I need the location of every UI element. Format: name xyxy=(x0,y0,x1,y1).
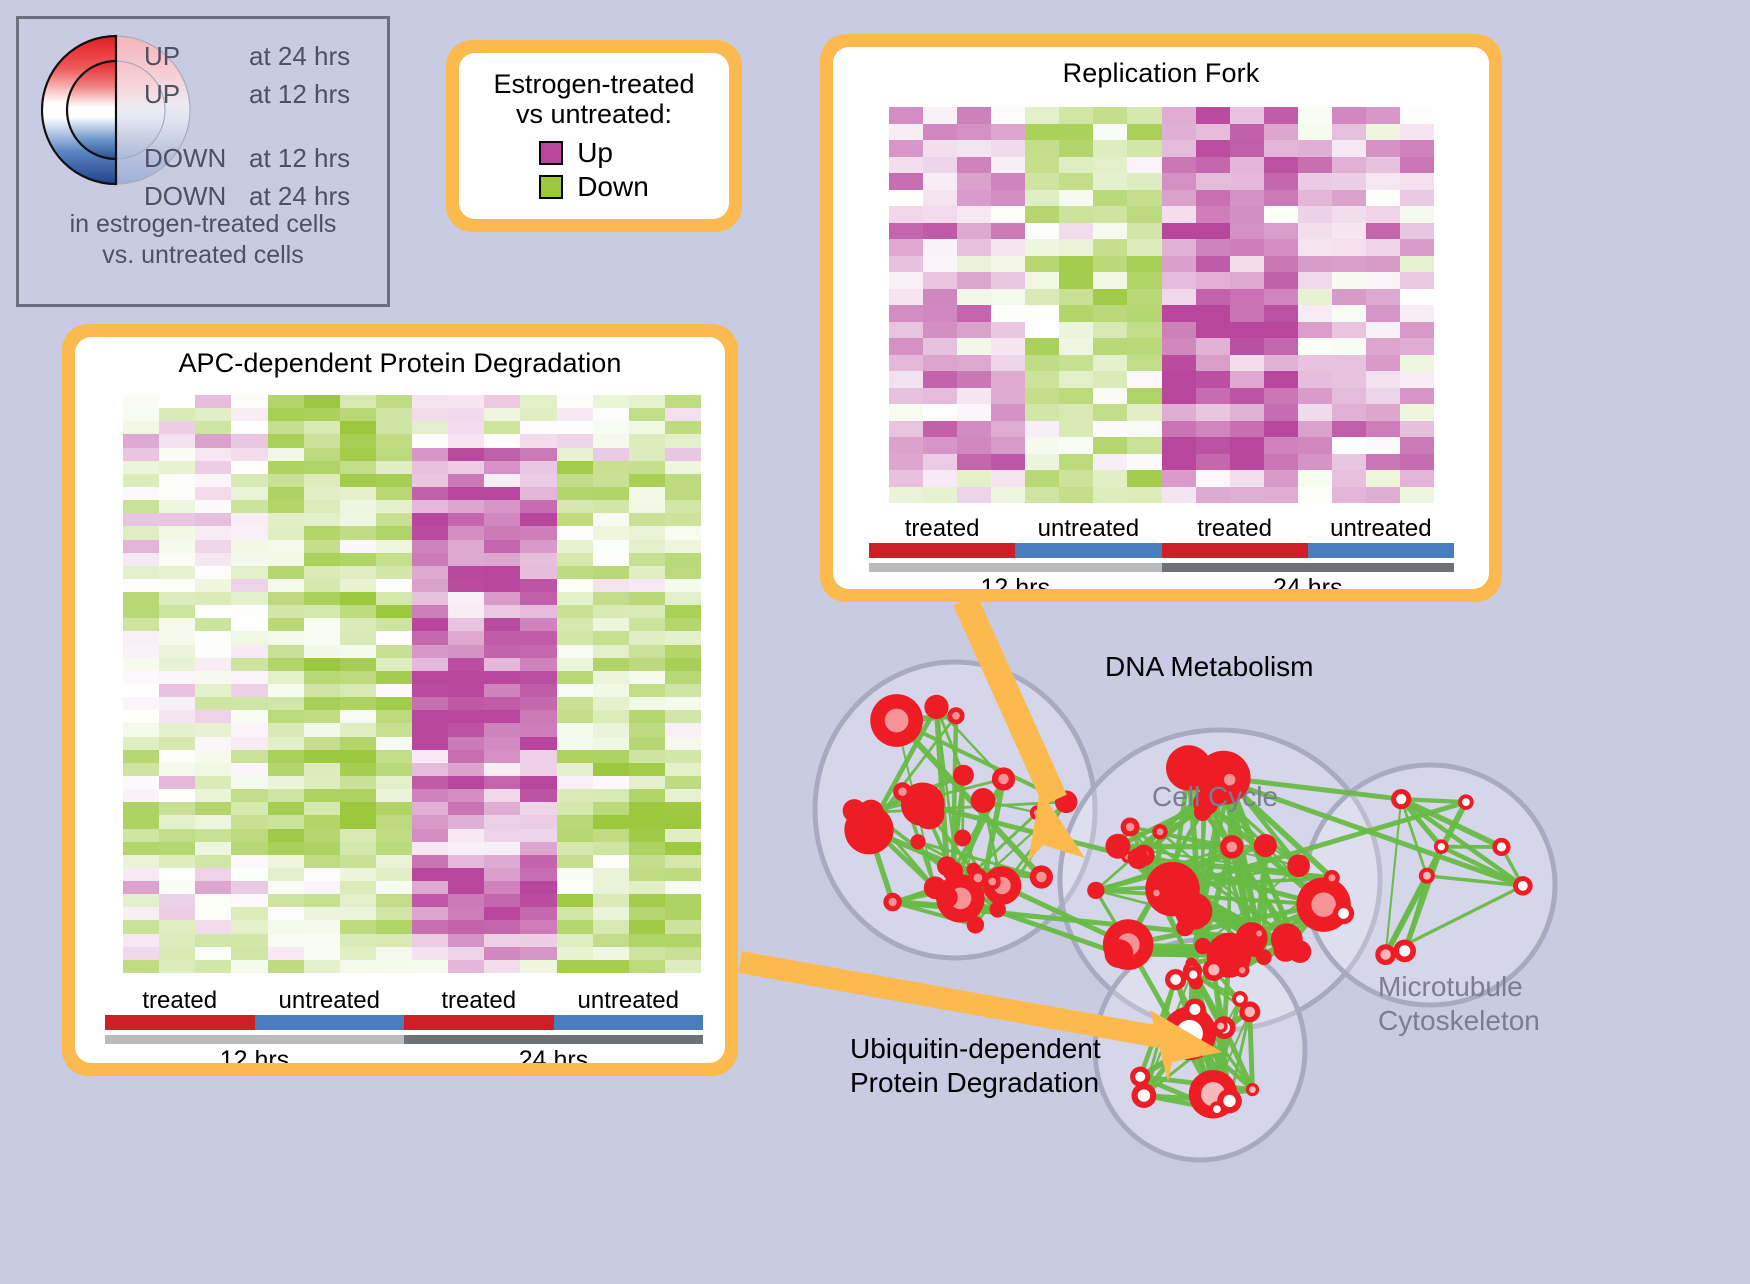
heatmap-cell xyxy=(304,907,340,920)
heatmap-cell xyxy=(231,881,267,894)
heatmap-cell xyxy=(889,190,923,207)
heatmap-cell xyxy=(1059,223,1093,240)
heatmap-cell xyxy=(923,140,957,157)
heatmap-cell xyxy=(123,461,159,474)
heatmap-cell xyxy=(593,723,629,736)
heatmap-cell xyxy=(376,907,412,920)
heatmap-cell xyxy=(593,671,629,684)
timepoint-color-bars xyxy=(869,563,1454,572)
heatmap-cell xyxy=(1332,338,1366,355)
heatmap-cell xyxy=(340,684,376,697)
heatmap-cell xyxy=(268,448,304,461)
heatmap-cell xyxy=(123,566,159,579)
heatmap-cell xyxy=(923,223,957,240)
heatmap-cell xyxy=(448,894,484,907)
heatmap-cell xyxy=(889,289,923,306)
heatmap-cell xyxy=(557,934,593,947)
heatmap-cell xyxy=(123,605,159,618)
heatmap-cell xyxy=(1230,421,1264,438)
network-node xyxy=(924,695,948,719)
heatmap-cell xyxy=(448,605,484,618)
heatmap-cell xyxy=(340,750,376,763)
heatmap-cell xyxy=(593,434,629,447)
heatmap-cell xyxy=(520,474,556,487)
heatmap-cell xyxy=(1264,487,1298,504)
heatmap-cell xyxy=(484,500,520,513)
heatmap-cell xyxy=(376,960,412,973)
heatmap-cell xyxy=(195,829,231,842)
heatmap-cell xyxy=(1264,454,1298,471)
heatmap-cell xyxy=(1264,239,1298,256)
heatmap-cell xyxy=(889,421,923,438)
heatmap-cell xyxy=(889,338,923,355)
heatmap-cell xyxy=(448,920,484,933)
heatmap-cell xyxy=(484,592,520,605)
heatmap-cell xyxy=(268,461,304,474)
heatmap-cell xyxy=(1264,322,1298,339)
heatmap-cell xyxy=(1196,140,1230,157)
heatmap-cell xyxy=(665,934,701,947)
heatmap-cell xyxy=(1196,305,1230,322)
heatmap-cell xyxy=(991,140,1025,157)
heatmap-cell xyxy=(1298,206,1332,223)
heatmap-cell xyxy=(412,947,448,960)
heatmap-cell xyxy=(484,421,520,434)
heatmap-cell xyxy=(484,737,520,750)
heatmap-cell xyxy=(557,697,593,710)
heatmap-cell xyxy=(1230,305,1264,322)
heatmap-cell xyxy=(1059,404,1093,421)
heatmap-cell xyxy=(231,474,267,487)
heatmap-cell xyxy=(412,631,448,644)
heatmap-cell xyxy=(1264,140,1298,157)
heatmap-cell xyxy=(340,868,376,881)
heatmap-cell xyxy=(629,710,665,723)
legend-up-down: Estrogen-treated vs untreated: Up Down xyxy=(446,40,742,232)
heatmap-cell xyxy=(593,618,629,631)
heatmap-cell xyxy=(304,631,340,644)
heatmap-cell xyxy=(593,934,629,947)
heatmap-cell xyxy=(195,894,231,907)
heatmap-cell xyxy=(557,947,593,960)
heatmap-cell xyxy=(665,631,701,644)
heatmap-cell xyxy=(957,272,991,289)
heatmap-cell xyxy=(557,737,593,750)
heatmap-cell xyxy=(665,474,701,487)
network-node-center xyxy=(885,709,909,733)
heatmap-cell xyxy=(1332,421,1366,438)
heatmap-cell xyxy=(268,645,304,658)
heatmap-cell xyxy=(412,815,448,828)
heatmap-cell xyxy=(957,256,991,273)
timepoint-label: 24 hrs xyxy=(404,1046,703,1063)
heatmap-cell xyxy=(376,474,412,487)
heatmap-cell xyxy=(1264,404,1298,421)
heatmap-cell xyxy=(231,461,267,474)
heatmap-cell xyxy=(629,474,665,487)
heatmap-cell xyxy=(340,658,376,671)
heatmap-cell xyxy=(1162,388,1196,405)
heatmap-cell xyxy=(889,223,923,240)
heatmap-cell xyxy=(123,842,159,855)
heatmap-cell xyxy=(1059,322,1093,339)
heatmap-cell xyxy=(448,513,484,526)
heatmap-cell xyxy=(629,934,665,947)
heatmap-cell xyxy=(520,789,556,802)
heatmap-cell xyxy=(665,526,701,539)
heatmap-cell xyxy=(1196,388,1230,405)
heatmap-cell xyxy=(665,553,701,566)
heatmap-cell xyxy=(268,842,304,855)
legend-item-up: Up xyxy=(539,137,649,169)
heatmap-cell xyxy=(629,750,665,763)
heatmap-cell xyxy=(340,474,376,487)
heatmap-cell xyxy=(520,461,556,474)
heatmap-cell xyxy=(195,579,231,592)
heatmap-cell xyxy=(159,802,195,815)
heatmap-cell xyxy=(448,540,484,553)
heatmap-cell xyxy=(340,947,376,960)
heatmap-cell xyxy=(412,684,448,697)
heatmap-cell xyxy=(159,553,195,566)
heatmap-cell xyxy=(195,448,231,461)
heatmap-cell xyxy=(1366,355,1400,372)
heatmap-cell xyxy=(412,671,448,684)
heatmap-cell xyxy=(1127,470,1161,487)
heatmap-cell xyxy=(593,776,629,789)
heatmap-cell xyxy=(159,448,195,461)
heatmap-cell xyxy=(340,553,376,566)
heatmap-cell xyxy=(231,645,267,658)
heatmap-cell xyxy=(520,868,556,881)
heatmap-cell xyxy=(1127,487,1161,504)
heatmap-cell xyxy=(991,157,1025,174)
heatmap-cell xyxy=(1025,289,1059,306)
heatmap-cell xyxy=(304,763,340,776)
heatmap-cell xyxy=(484,448,520,461)
heatmap-cell xyxy=(1400,470,1434,487)
heatmap-cell xyxy=(1230,256,1264,273)
heatmap-cell xyxy=(923,470,957,487)
heatmap-cell xyxy=(304,513,340,526)
heatmap-cell xyxy=(448,631,484,644)
heatmap-cell xyxy=(520,631,556,644)
heatmap-cell xyxy=(1366,173,1400,190)
heatmap-cell xyxy=(376,500,412,513)
heatmap-cell xyxy=(304,553,340,566)
heatmap-cell xyxy=(1196,190,1230,207)
heatmap-cell xyxy=(484,618,520,631)
heatmap-cell xyxy=(159,763,195,776)
heatmap-cell xyxy=(629,697,665,710)
heatmap-cell xyxy=(376,776,412,789)
heatmap-cell xyxy=(1400,437,1434,454)
heatmap-cell xyxy=(1059,371,1093,388)
column-group-label: untreated xyxy=(255,987,405,1015)
heatmap-cell xyxy=(1093,305,1127,322)
heatmap-cell xyxy=(557,763,593,776)
heatmap-cell xyxy=(1162,173,1196,190)
timepoint-bar-12-hrs xyxy=(869,563,1162,572)
heatmap-cell xyxy=(520,855,556,868)
heatmap-cell xyxy=(1127,355,1161,372)
heatmap-cell xyxy=(376,934,412,947)
heatmap-cell xyxy=(593,750,629,763)
heatmap-cell xyxy=(991,487,1025,504)
heatmap-cell xyxy=(340,566,376,579)
heatmap-cell xyxy=(923,272,957,289)
heatmap-cell xyxy=(195,920,231,933)
heatmap-cell xyxy=(557,645,593,658)
heatmap-cell xyxy=(304,671,340,684)
heatmap-cell xyxy=(1196,322,1230,339)
heatmap-cell xyxy=(376,421,412,434)
heatmap-cell xyxy=(593,500,629,513)
heatmap-cell xyxy=(629,763,665,776)
heatmap-cell xyxy=(448,421,484,434)
heatmap-cell xyxy=(1400,124,1434,141)
heatmap-cell xyxy=(1127,454,1161,471)
heatmap-cell xyxy=(1400,239,1434,256)
heatmap-cell xyxy=(231,868,267,881)
heatmap-cell xyxy=(1059,437,1093,454)
heatmap-cell xyxy=(484,671,520,684)
heatmap-cell xyxy=(123,750,159,763)
heatmap-cell xyxy=(376,763,412,776)
heatmap-cell xyxy=(665,907,701,920)
network-node-center xyxy=(1497,842,1506,851)
heatmap-cell xyxy=(376,697,412,710)
legend-item-up-label: Up xyxy=(577,137,613,169)
swatch-down-icon xyxy=(539,175,563,199)
heatmap-cell xyxy=(340,540,376,553)
heatmap-cell xyxy=(231,448,267,461)
heatmap-cell xyxy=(340,776,376,789)
heatmap-cell xyxy=(1366,470,1400,487)
heatmap-cell xyxy=(957,388,991,405)
heatmap-cell xyxy=(665,540,701,553)
heatmap-cell xyxy=(1230,206,1264,223)
heatmap-cell xyxy=(231,723,267,736)
heatmap-cell xyxy=(557,829,593,842)
cluster-label-cell-cycle: Cell Cycle xyxy=(1152,780,1278,814)
network-node xyxy=(1195,938,1211,954)
heatmap-cell xyxy=(159,750,195,763)
heatmap-cell xyxy=(484,789,520,802)
heatmap-cell xyxy=(195,408,231,421)
heatmap-cell xyxy=(1093,256,1127,273)
heatmap-cell xyxy=(123,723,159,736)
heatmap-cell xyxy=(123,789,159,802)
heatmap-cell xyxy=(1025,107,1059,124)
heatmap-cell xyxy=(195,487,231,500)
heatmap-cell xyxy=(412,434,448,447)
heatmap-cell xyxy=(1400,223,1434,240)
heatmap-cell xyxy=(1332,256,1366,273)
heatmap-cell xyxy=(665,421,701,434)
heatmap-cell xyxy=(1025,272,1059,289)
heatmap-cell xyxy=(231,540,267,553)
heatmap-cell xyxy=(195,907,231,920)
column-group-label: untreated xyxy=(1015,515,1161,543)
heatmap-cell xyxy=(889,454,923,471)
heatmap-cell xyxy=(665,645,701,658)
heatmap-cell xyxy=(304,474,340,487)
heatmap-cell xyxy=(231,631,267,644)
timepoint-bar-24-hrs xyxy=(1162,563,1455,572)
heatmap-cell xyxy=(195,526,231,539)
heatmap-cell xyxy=(557,526,593,539)
heatmap-cell xyxy=(593,631,629,644)
heatmap-cell xyxy=(665,671,701,684)
heatmap-cell xyxy=(412,697,448,710)
heatmap-cell xyxy=(1366,322,1400,339)
heatmap-cell xyxy=(665,566,701,579)
heatmap-cell xyxy=(123,526,159,539)
heatmap-cell xyxy=(923,190,957,207)
heatmap-cell xyxy=(520,395,556,408)
network-node-center xyxy=(1328,874,1335,881)
heatmap-cell xyxy=(665,723,701,736)
heatmap-cell xyxy=(376,408,412,421)
network-node-center xyxy=(1223,1095,1235,1107)
heatmap-cell xyxy=(376,868,412,881)
heatmap-cell xyxy=(557,408,593,421)
heatmap-cell xyxy=(957,157,991,174)
heatmap-cell xyxy=(268,526,304,539)
heatmap-cell xyxy=(448,618,484,631)
heatmap-cell xyxy=(991,421,1025,438)
heatmap-cell xyxy=(520,500,556,513)
heatmap-cell xyxy=(412,658,448,671)
heatmap-cell xyxy=(268,802,304,815)
heatmap-cell xyxy=(448,500,484,513)
heatmap-cell xyxy=(1298,140,1332,157)
heatmap-cell xyxy=(231,907,267,920)
heatmap-cell xyxy=(923,157,957,174)
heatmap-cell xyxy=(412,710,448,723)
heatmap-cell xyxy=(1059,107,1093,124)
heatmap-cell xyxy=(268,566,304,579)
heatmap-cell xyxy=(1059,338,1093,355)
heatmap-cell xyxy=(159,605,195,618)
heatmap-cell xyxy=(1298,404,1332,421)
heatmap-cell xyxy=(1298,256,1332,273)
heatmap-cell xyxy=(1332,140,1366,157)
heatmap-apc-degradation xyxy=(123,395,701,973)
heatmap-cell xyxy=(593,487,629,500)
heatmap-cell xyxy=(889,470,923,487)
heatmap-cell xyxy=(268,907,304,920)
heatmap-cell xyxy=(376,513,412,526)
heatmap-cell xyxy=(665,920,701,933)
heatmap-cell xyxy=(1196,371,1230,388)
axis-apc-degradation: treateduntreatedtreateduntreated 12 hrs2… xyxy=(105,987,703,1063)
heatmap-cell xyxy=(123,855,159,868)
heatmap-cell xyxy=(520,763,556,776)
network-diagram: DNA Metabolism Cell Cycle Microtubule Cy… xyxy=(790,620,1750,1279)
heatmap-cell xyxy=(520,605,556,618)
network-node-center xyxy=(1208,964,1219,975)
heatmap-cell xyxy=(1162,206,1196,223)
heatmap-cell xyxy=(1230,388,1264,405)
heatmap-cell xyxy=(376,947,412,960)
heatmap-cell xyxy=(123,697,159,710)
heatmap-cell xyxy=(340,605,376,618)
heatmap-cell xyxy=(520,802,556,815)
heatmap-cell xyxy=(268,434,304,447)
heatmap-cell xyxy=(304,592,340,605)
heatmap-cell xyxy=(923,107,957,124)
heatmap-cell xyxy=(520,920,556,933)
heatmap-cell xyxy=(123,947,159,960)
heatmap-cell xyxy=(1127,272,1161,289)
heatmap-cell xyxy=(923,371,957,388)
heatmap-cell xyxy=(123,421,159,434)
network-node-center xyxy=(1399,945,1410,956)
heatmap-cell xyxy=(1025,256,1059,273)
heatmap-cell xyxy=(268,934,304,947)
heatmap-cell xyxy=(991,289,1025,306)
heatmap-cell xyxy=(1230,371,1264,388)
heatmap-cell xyxy=(1230,470,1264,487)
network-node-center xyxy=(1518,881,1528,891)
ubiquitin-line2: Protein Degradation xyxy=(850,1066,1101,1100)
heatmap-cell xyxy=(412,868,448,881)
heatmap-cell xyxy=(195,631,231,644)
heatmap-cell xyxy=(268,789,304,802)
heatmap-cell xyxy=(123,540,159,553)
network-node-center xyxy=(1170,974,1181,985)
heatmap-cell xyxy=(1093,322,1127,339)
heatmap-cell xyxy=(1025,470,1059,487)
heatmap-cell xyxy=(1059,140,1093,157)
heatmap-cell xyxy=(593,947,629,960)
heatmap-cell xyxy=(159,815,195,828)
heatmap-cell xyxy=(340,592,376,605)
heatmap-cell xyxy=(1127,140,1161,157)
heatmap-cell xyxy=(376,618,412,631)
heatmap-cell xyxy=(889,173,923,190)
heatmap-cell xyxy=(1332,454,1366,471)
network-node xyxy=(1105,939,1134,968)
heatmap-cell xyxy=(268,500,304,513)
axis-replication-fork: treateduntreatedtreateduntreated 12 hrs2… xyxy=(869,515,1454,589)
heatmap-cell xyxy=(376,855,412,868)
heatmap-cell xyxy=(231,815,267,828)
heatmap-cell xyxy=(159,934,195,947)
heatmap-cell xyxy=(1059,206,1093,223)
heatmap-cell xyxy=(376,645,412,658)
heatmap-cell xyxy=(593,737,629,750)
heatmap-cell xyxy=(1093,124,1127,141)
treatment-bar-treated xyxy=(404,1015,554,1030)
heatmap-cell xyxy=(340,920,376,933)
heatmap-cell xyxy=(1059,487,1093,504)
heatmap-cell xyxy=(268,474,304,487)
heatmap-cell xyxy=(520,540,556,553)
timepoint-labels: 12 hrs24 hrs xyxy=(105,1046,703,1063)
heatmap-cell xyxy=(1025,322,1059,339)
heatmap-cell xyxy=(448,829,484,842)
heatmap-cell xyxy=(1025,338,1059,355)
heatmap-cell xyxy=(1298,322,1332,339)
heatmap-cell xyxy=(268,868,304,881)
heatmap-cell xyxy=(957,487,991,504)
heatmap-cell xyxy=(159,842,195,855)
heatmap-cell xyxy=(195,421,231,434)
heatmap-cell xyxy=(448,526,484,539)
